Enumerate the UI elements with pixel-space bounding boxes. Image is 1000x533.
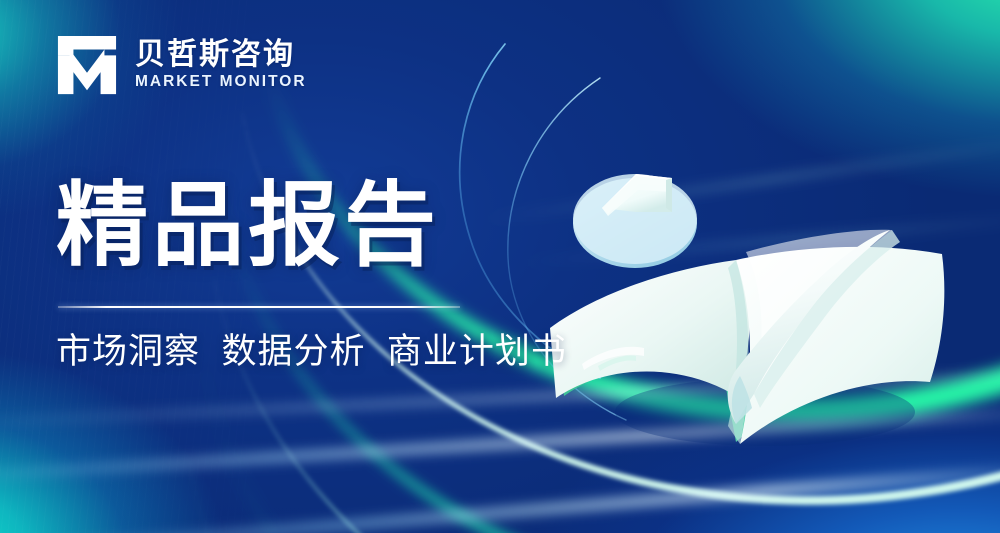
page-subtitle: 市场洞察 数据分析 商业计划书 <box>56 330 567 374</box>
light-band-3 <box>0 463 1000 533</box>
open-book-illustration <box>540 150 960 450</box>
brand-text: 贝哲斯咨询 MARKET MONITOR <box>135 40 307 90</box>
page-title: 精品报告 <box>56 180 440 274</box>
report-banner: 贝哲斯咨询 MARKET MONITOR 精品报告 市场洞察 数据分析 商业计划… <box>0 0 1000 533</box>
brand-name-cn: 贝哲斯咨询 <box>135 40 307 70</box>
brand-name-en: MARKET MONITOR <box>135 74 307 90</box>
market-monitor-m-logo-icon <box>56 34 118 96</box>
brand-logo: 贝哲斯咨询 MARKET MONITOR <box>56 34 307 96</box>
title-divider <box>58 306 460 308</box>
